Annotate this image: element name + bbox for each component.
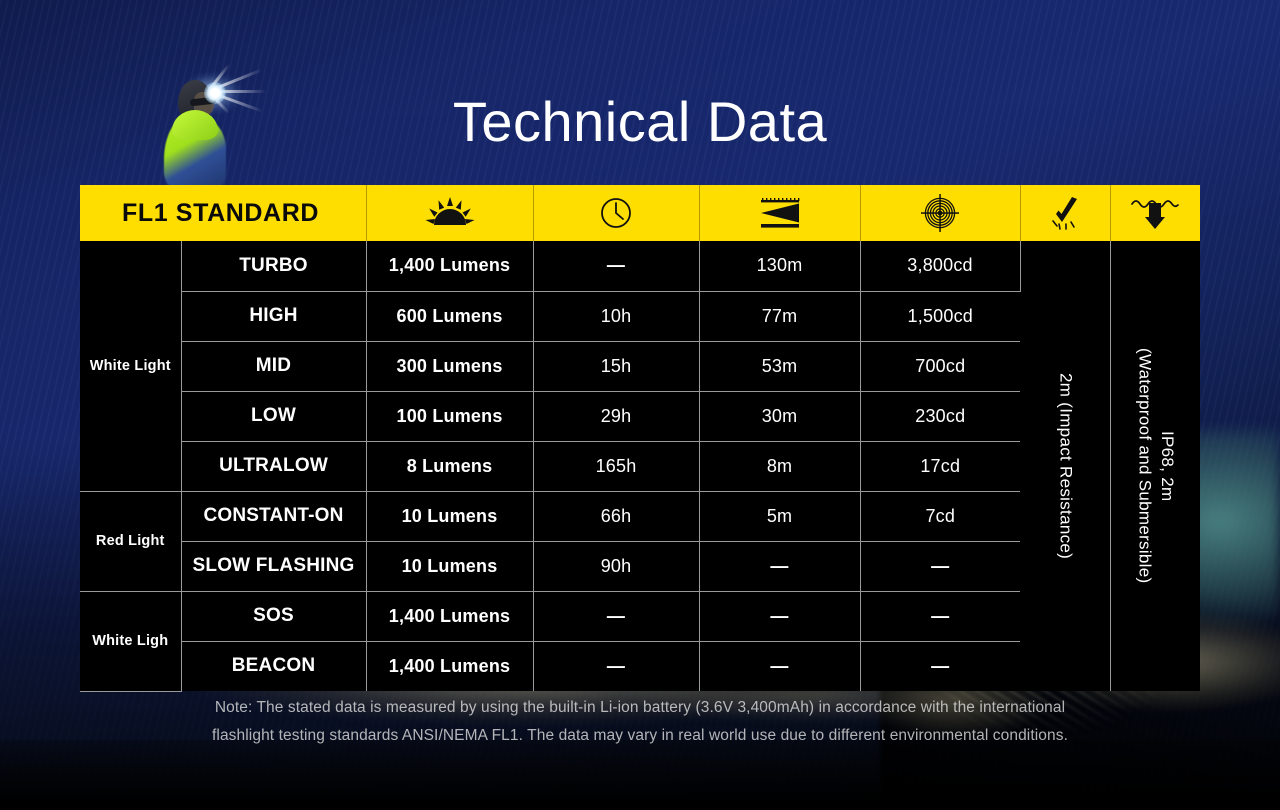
lumens-value: 8 Lumens — [366, 441, 533, 491]
beam-distance-icon — [699, 185, 860, 241]
brightness-icon — [366, 185, 533, 241]
footnote-line-2: flashlight testing standards ANSI/NEMA F… — [100, 722, 1180, 750]
mode-name: MID — [181, 341, 366, 391]
intensity-value: 700cd — [860, 341, 1020, 391]
footnote: Note: The stated data is measured by usi… — [0, 694, 1280, 750]
mode-name: TURBO — [181, 241, 366, 291]
intensity-value: 17cd — [860, 441, 1020, 491]
page-title: Technical Data — [0, 94, 1280, 150]
runtime-value: — — [533, 641, 699, 691]
lumens-value: 100 Lumens — [366, 391, 533, 441]
distance-value: — — [699, 541, 860, 591]
lumens-value: 600 Lumens — [366, 291, 533, 341]
mode-name: SLOW FLASHING — [181, 541, 366, 591]
distance-value: 5m — [699, 491, 860, 541]
lumens-value: 1,400 Lumens — [366, 591, 533, 641]
mode-name: ULTRALOW — [181, 441, 366, 491]
lumens-value: 1,400 Lumens — [366, 241, 533, 291]
runtime-value: 10h — [533, 291, 699, 341]
distance-value: — — [699, 641, 860, 691]
lumens-value: 10 Lumens — [366, 491, 533, 541]
technical-data-table: FL1 STANDARD — [80, 185, 1200, 691]
intensity-value: 230cd — [860, 391, 1020, 441]
runtime-value: — — [533, 241, 699, 291]
waterproof-icon — [1110, 185, 1200, 241]
impact-resistance-icon — [1020, 185, 1110, 241]
group-label-white-light-2: White Ligh — [80, 591, 181, 691]
mode-name: BEACON — [181, 641, 366, 691]
group-label-red-light: Red Light — [80, 491, 181, 591]
table-header-row: FL1 STANDARD — [80, 185, 1200, 241]
intensity-value: — — [860, 591, 1020, 641]
distance-value: — — [699, 591, 860, 641]
intensity-value: — — [860, 641, 1020, 691]
runtime-value: 90h — [533, 541, 699, 591]
peak-beam-intensity-icon — [860, 185, 1020, 241]
lumens-value: 10 Lumens — [366, 541, 533, 591]
mode-name: LOW — [181, 391, 366, 441]
distance-value: 8m — [699, 441, 860, 491]
water-resistance-text: IP68, 2m (Waterproof and Submersible) — [1132, 348, 1178, 583]
runtime-value: 165h — [533, 441, 699, 491]
water-resistance-cell: IP68, 2m (Waterproof and Submersible) — [1110, 241, 1200, 691]
fl1-standard-label: FL1 STANDARD — [80, 185, 366, 241]
footnote-line-1: Note: The stated data is measured by usi… — [100, 694, 1180, 722]
clock-icon — [533, 185, 699, 241]
runtime-value: 29h — [533, 391, 699, 441]
impact-resistance-cell: 2m (Impact Resistance) — [1020, 241, 1110, 691]
lumens-value: 1,400 Lumens — [366, 641, 533, 691]
distance-value: 30m — [699, 391, 860, 441]
intensity-value: 7cd — [860, 491, 1020, 541]
group-label-white-light: White Light — [80, 241, 181, 491]
mode-name: CONSTANT-ON — [181, 491, 366, 541]
distance-value: 130m — [699, 241, 860, 291]
intensity-value: — — [860, 541, 1020, 591]
runtime-value: — — [533, 591, 699, 641]
lumens-value: 300 Lumens — [366, 341, 533, 391]
mode-name: SOS — [181, 591, 366, 641]
impact-resistance-text: 2m (Impact Resistance) — [1054, 373, 1077, 559]
runtime-value: 15h — [533, 341, 699, 391]
table-row: White Light TURBO 1,400 Lumens — 130m 3,… — [80, 241, 1200, 291]
intensity-value: 3,800cd — [860, 241, 1020, 291]
distance-value: 53m — [699, 341, 860, 391]
runtime-value: 66h — [533, 491, 699, 541]
distance-value: 77m — [699, 291, 860, 341]
mode-name: HIGH — [181, 291, 366, 341]
intensity-value: 1,500cd — [860, 291, 1020, 341]
